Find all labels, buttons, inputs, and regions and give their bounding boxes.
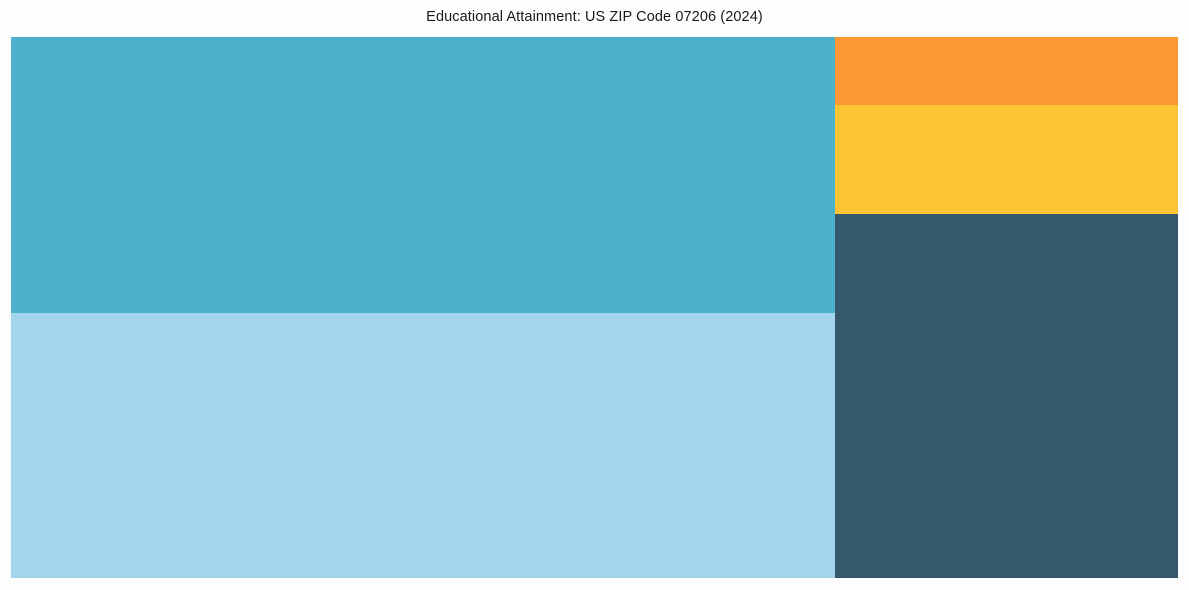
treemap-tile-some-college-no-degree[interactable]: Some college, no degree — [835, 105, 1178, 214]
treemap-figure: Educational Attainment: US ZIP Code 0720… — [0, 0, 1189, 590]
treemap-column-left: High school graduate or equivalent Less … — [11, 37, 835, 578]
treemap-plot-area: High school graduate or equivalent Less … — [11, 37, 1178, 578]
chart-title: Educational Attainment: US ZIP Code 0720… — [0, 8, 1189, 26]
treemap-tile-bachelors-degree[interactable]: Bachelor's degree — [835, 214, 1178, 578]
treemap-tile-less-than-high-school-diploma[interactable]: Less than high school diploma — [11, 313, 835, 578]
treemap-tile-graduate-or-professional-degree[interactable]: Graduate or professional degree — [835, 37, 1178, 105]
treemap-tile-high-school-graduate-or-equivalent[interactable]: High school graduate or equivalent — [11, 37, 835, 313]
treemap-column-right: Graduate or professional degree Some col… — [835, 37, 1178, 578]
